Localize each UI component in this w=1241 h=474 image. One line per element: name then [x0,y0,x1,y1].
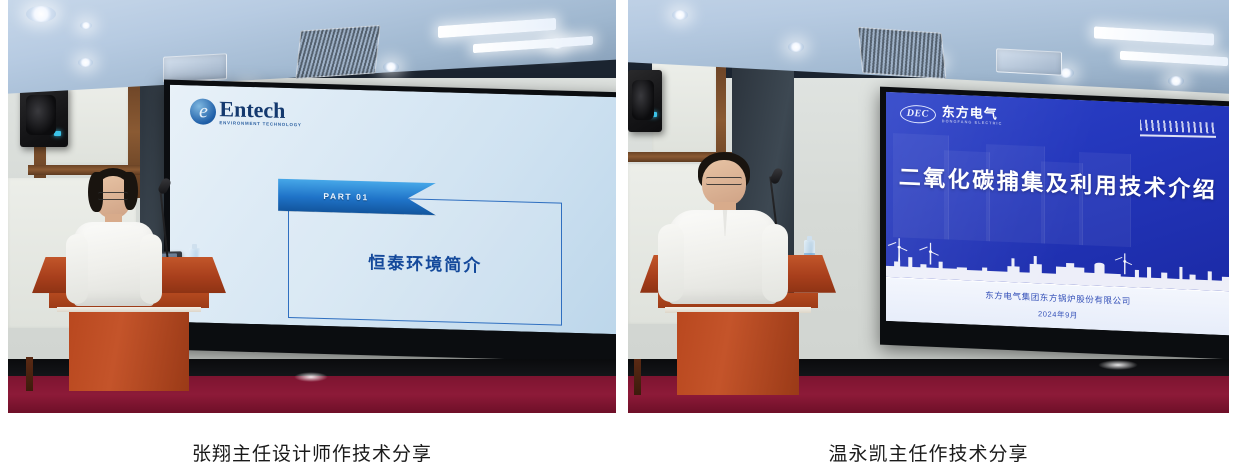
part-ribbon: PART 01 [278,178,436,215]
entech-logo: Entech ENVIRONMENT TECHNOLOGY [190,97,301,128]
dec-wordmark: 东方电气 DONGFANG ELECTRIC [942,105,1003,126]
entech-emblem-icon [190,98,216,125]
conference-photo-left: Entech ENVIRONMENT TECHNOLOGY PART 01 恒泰… [8,0,616,413]
caption-left: 张翔主任设计师作技术分享 [8,413,616,466]
projection-screen-frame-left: Entech ENVIRONMENT TECHNOLOGY PART 01 恒泰… [164,80,616,363]
ceiling-light-icon [383,62,399,72]
arm [762,224,788,302]
entech-wordmark: Entech ENVIRONMENT TECHNOLOGY [219,98,301,128]
footer-date: 2024年9月 [1038,308,1078,321]
speaker-led [650,112,657,117]
ceiling-light-icon [78,58,93,67]
air-vent-icon [858,27,947,79]
arm [66,234,88,304]
slide-left: Entech ENVIRONMENT TECHNOLOGY PART 01 恒泰… [170,85,616,335]
ceiling-light-icon [672,10,688,20]
projection-screen-left: Entech ENVIRONMENT TECHNOLOGY PART 01 恒泰… [170,85,616,335]
slide-right: DEC 东方电气 DONGFANG ELECTRIC [886,92,1229,335]
calligraphy-underline [1140,134,1216,137]
slide-blue-body: DEC 东方电气 DONGFANG ELECTRIC [886,92,1229,292]
ceiling-light-icon [26,6,56,22]
projection-screen-right: DEC 东方电气 DONGFANG ELECTRIC [886,92,1229,335]
ceiling-light-icon [1168,76,1184,86]
ceiling-light-icon [80,22,92,29]
dec-name-cn: 东方电气 [942,105,1003,121]
conference-photo-right: DEC 东方电气 DONGFANG ELECTRIC [628,0,1229,413]
figure-left: Entech ENVIRONMENT TECHNOLOGY PART 01 恒泰… [8,0,616,466]
air-vent-icon [996,48,1062,75]
footer-company: 东方电气集团东方锅炉股份有限公司 [985,289,1131,307]
air-vent-icon [163,53,227,82]
entech-tagline: ENVIRONMENT TECHNOLOGY [219,121,301,128]
floor-reflection [294,372,328,382]
floor-reflection [1098,360,1138,370]
entech-name: Entech [219,98,301,122]
caption-right: 温永凯主任作技术分享 [628,413,1229,466]
podium-base [677,312,799,395]
arm [658,224,684,302]
ceiling-light-icon [788,42,804,52]
slide-content-box: PART 01 恒泰环境简介 [288,195,562,326]
calligraphy-mark [1140,119,1216,138]
loudspeaker-icon [628,70,662,132]
photo-pair-page: Entech ENVIRONMENT TECHNOLOGY PART 01 恒泰… [0,0,1241,474]
figure-right: DEC 东方电气 DONGFANG ELECTRIC [628,0,1229,466]
glasses-icon [98,192,128,200]
dec-mark-text: DEC [907,108,929,120]
glasses-icon [706,177,742,185]
projection-screen-frame-right: DEC 东方电气 DONGFANG ELECTRIC [880,87,1229,360]
hair-side [124,172,138,210]
speaker-led [54,131,61,136]
arm [140,234,162,304]
loudspeaker-icon [20,85,68,147]
dec-name-en: DONGFANG ELECTRIC [942,120,1003,126]
dec-emblem-icon: DEC [900,104,936,124]
presenter-right [658,152,798,322]
presenter-left [62,168,182,328]
dec-logo: DEC 东方电气 DONGFANG ELECTRIC [900,104,1003,127]
air-vent-icon [295,25,380,79]
part-ribbon-label: PART 01 [323,191,369,202]
calligraphy-strokes [1140,119,1216,133]
slide-title-left: 恒泰环境简介 [289,246,561,279]
